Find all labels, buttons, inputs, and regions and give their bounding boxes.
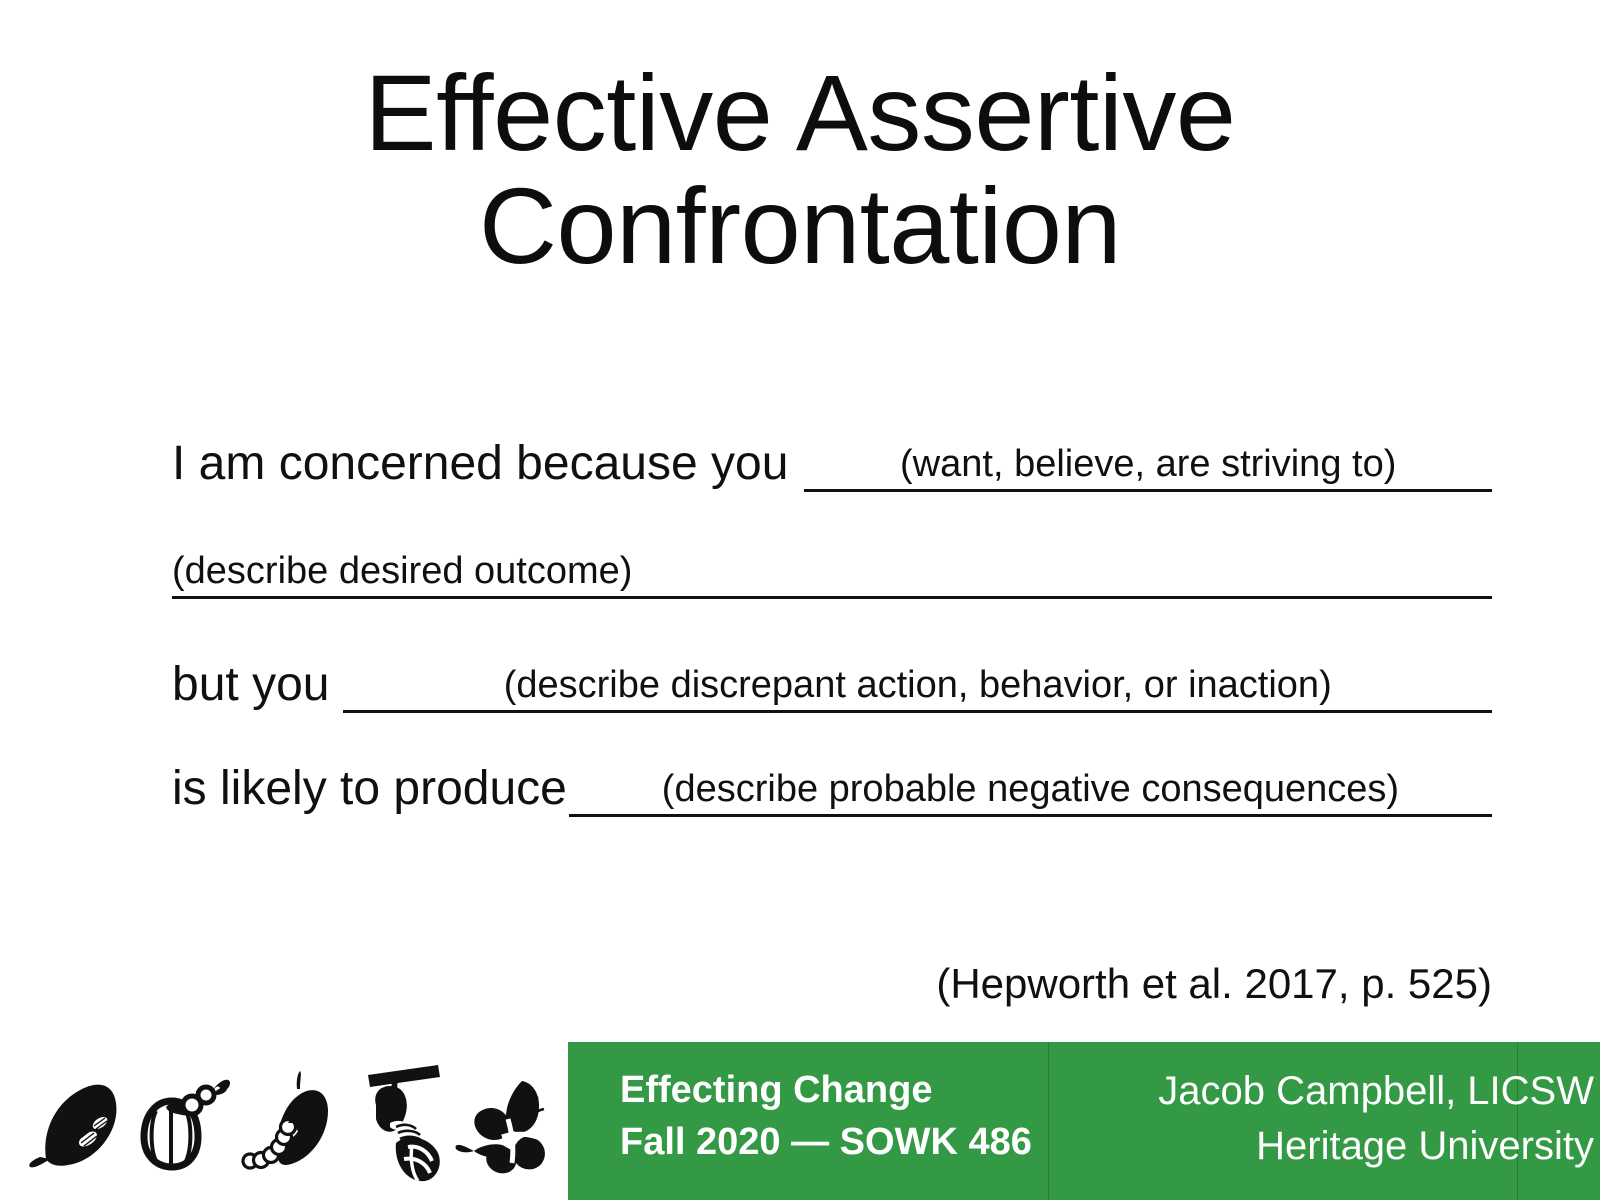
template-row-3: but you (describe discrepant action, beh… xyxy=(172,661,1492,713)
footer-presenter-info: Jacob Campbell, LICSW Heritage Universit… xyxy=(1158,1064,1594,1174)
slide-canvas: Effective Assertive Confrontation I am c… xyxy=(0,0,1600,1200)
template-row-3-blank[interactable]: (describe discrepant action, behavior, o… xyxy=(343,666,1492,713)
footer-course-title: Effecting Change xyxy=(620,1064,1032,1116)
template-row-2-blank[interactable]: (describe desired outcome) xyxy=(172,552,1492,599)
template-row-4-lead: is likely to produce xyxy=(172,765,567,817)
page-title: Effective Assertive Confrontation xyxy=(0,56,1600,283)
chrysalis-emerging-icon xyxy=(346,1061,446,1191)
assertive-confrontation-template: I am concerned because you (want, believ… xyxy=(172,440,1492,817)
butterfly-icon xyxy=(452,1061,552,1191)
template-row-4: is likely to produce (describe probable … xyxy=(172,765,1492,817)
template-row-4-blank[interactable]: (describe probable negative consequences… xyxy=(569,770,1492,817)
footer-divider-1 xyxy=(1048,1042,1049,1200)
egg-hatching-icon xyxy=(134,1061,234,1191)
template-row-3-hint: (describe discrepant action, behavior, o… xyxy=(343,666,1492,704)
footer-presenter-name: Jacob Campbell, LICSW xyxy=(1158,1064,1594,1119)
template-row-2-hint: (describe desired outcome) xyxy=(172,552,1492,590)
template-row-1-blank[interactable]: (want, believe, are striving to) xyxy=(804,445,1492,492)
footer-course-info: Effecting Change Fall 2020 — SOWK 486 xyxy=(620,1064,1032,1169)
template-row-2: (describe desired outcome) xyxy=(172,552,1492,599)
caterpillar-on-leaf-icon xyxy=(240,1061,340,1191)
template-row-1: I am concerned because you (want, believ… xyxy=(172,440,1492,492)
citation: (Hepworth et al. 2017, p. 525) xyxy=(936,963,1492,1005)
template-row-1-hint: (want, believe, are striving to) xyxy=(804,445,1492,483)
template-row-3-lead: but you xyxy=(172,661,329,713)
template-row-4-hint: (describe probable negative consequences… xyxy=(569,770,1492,808)
leaf-with-eggs-icon xyxy=(28,1061,128,1191)
butterfly-lifecycle-strip xyxy=(28,1052,568,1200)
footer-bar: Effecting Change Fall 2020 — SOWK 486 Ja… xyxy=(568,1042,1600,1200)
footer-course-term: Fall 2020 — SOWK 486 xyxy=(620,1116,1032,1168)
page-title-line-1: Effective Assertive xyxy=(0,56,1600,169)
page-title-line-2: Confrontation xyxy=(0,169,1600,282)
template-row-1-lead: I am concerned because you xyxy=(172,440,788,492)
footer-institution: Heritage University xyxy=(1158,1119,1594,1174)
